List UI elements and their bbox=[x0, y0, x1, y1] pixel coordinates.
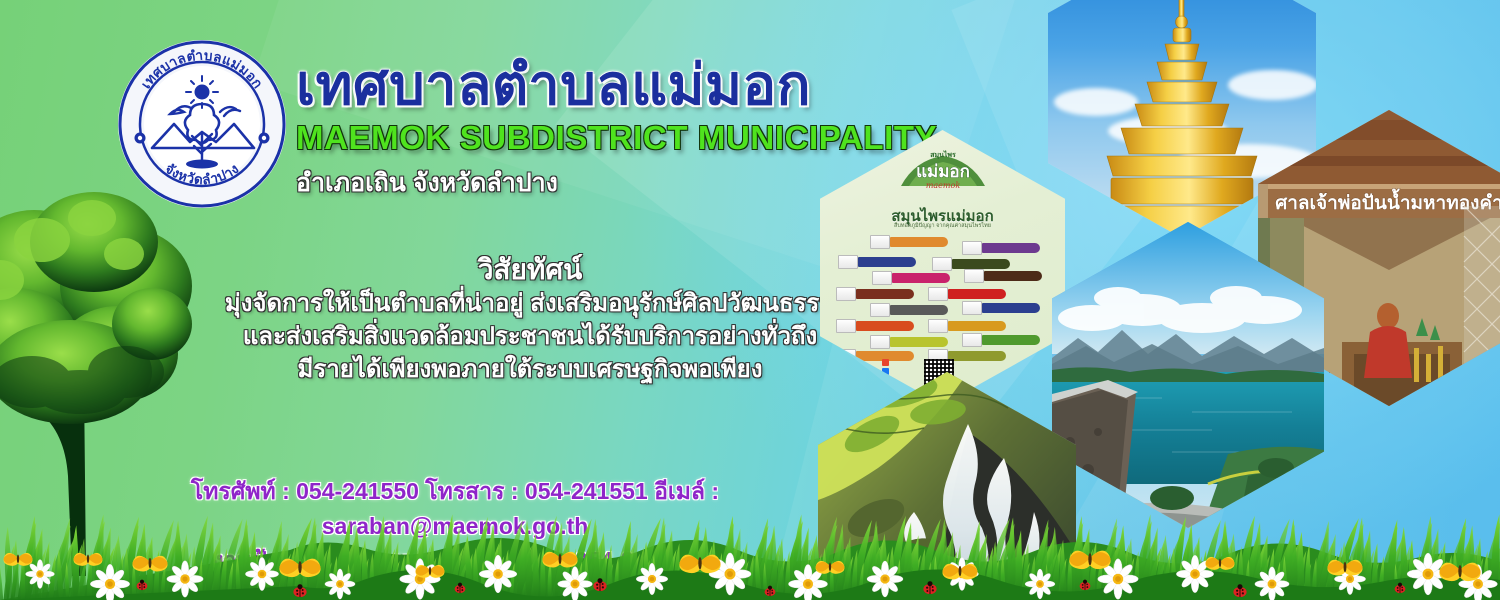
poster-product bbox=[928, 286, 1006, 301]
poster-product bbox=[870, 302, 948, 317]
poster-contact-icons bbox=[882, 359, 920, 389]
poster-product bbox=[964, 268, 1042, 283]
poster-product bbox=[836, 286, 914, 301]
municipal-seal-logo: เทศบาลตำบลแม่มอก จังหวัดลำปาง bbox=[116, 38, 288, 210]
poster-product bbox=[870, 234, 948, 249]
pagoda-illustration bbox=[1087, 0, 1277, 238]
grass-flowers-border bbox=[0, 510, 1500, 600]
vision-block: วิสัยทัศน์ มุ่งจัดการให้เป็นตำบลที่น่าอย… bbox=[180, 252, 880, 386]
vision-line: และส่งเสริมสิ่งแวดล้อมประชาชนได้รับบริกา… bbox=[180, 320, 880, 353]
svg-text:maemok: maemok bbox=[925, 181, 959, 190]
vision-heading: วิสัยทัศน์ bbox=[180, 252, 880, 287]
vision-line: มุ่งจัดการให้เป็นตำบลที่น่าอยู่ ส่งเสริม… bbox=[180, 287, 880, 320]
hexagon-herb-product-poster[interactable]: สมุนไพร แม่มอก maemok สมุนไพรแม่มอก สืบท… bbox=[820, 130, 1065, 405]
svg-text:แม่มอก: แม่มอก bbox=[916, 162, 970, 182]
poster-brand-logo: สมุนไพร แม่มอก maemok bbox=[891, 144, 995, 198]
poster-product bbox=[962, 332, 1040, 347]
poster-product bbox=[870, 334, 948, 349]
vision-line: มีรายได้เพียงพอภายใต้ระบบเศรษฐกิจพอเพียง bbox=[180, 353, 880, 386]
poster-product bbox=[928, 318, 1006, 333]
poster-product-grid bbox=[836, 234, 1049, 360]
poster-product bbox=[962, 300, 1040, 315]
poster-product bbox=[962, 240, 1040, 255]
poster-product bbox=[838, 254, 916, 269]
svg-text:สมุนไพร: สมุนไพร bbox=[930, 150, 956, 159]
poster-product bbox=[872, 270, 950, 285]
poster-subtitle: สืบทอดภูมิปัญญา จากคุณค่าสมุนไพรไทย bbox=[820, 222, 1065, 230]
poster-product bbox=[836, 318, 914, 333]
municipality-banner: เทศบาลตำบลแม่มอก จังหวัดลำปาง เทศบาลตำบล… bbox=[0, 0, 1500, 600]
